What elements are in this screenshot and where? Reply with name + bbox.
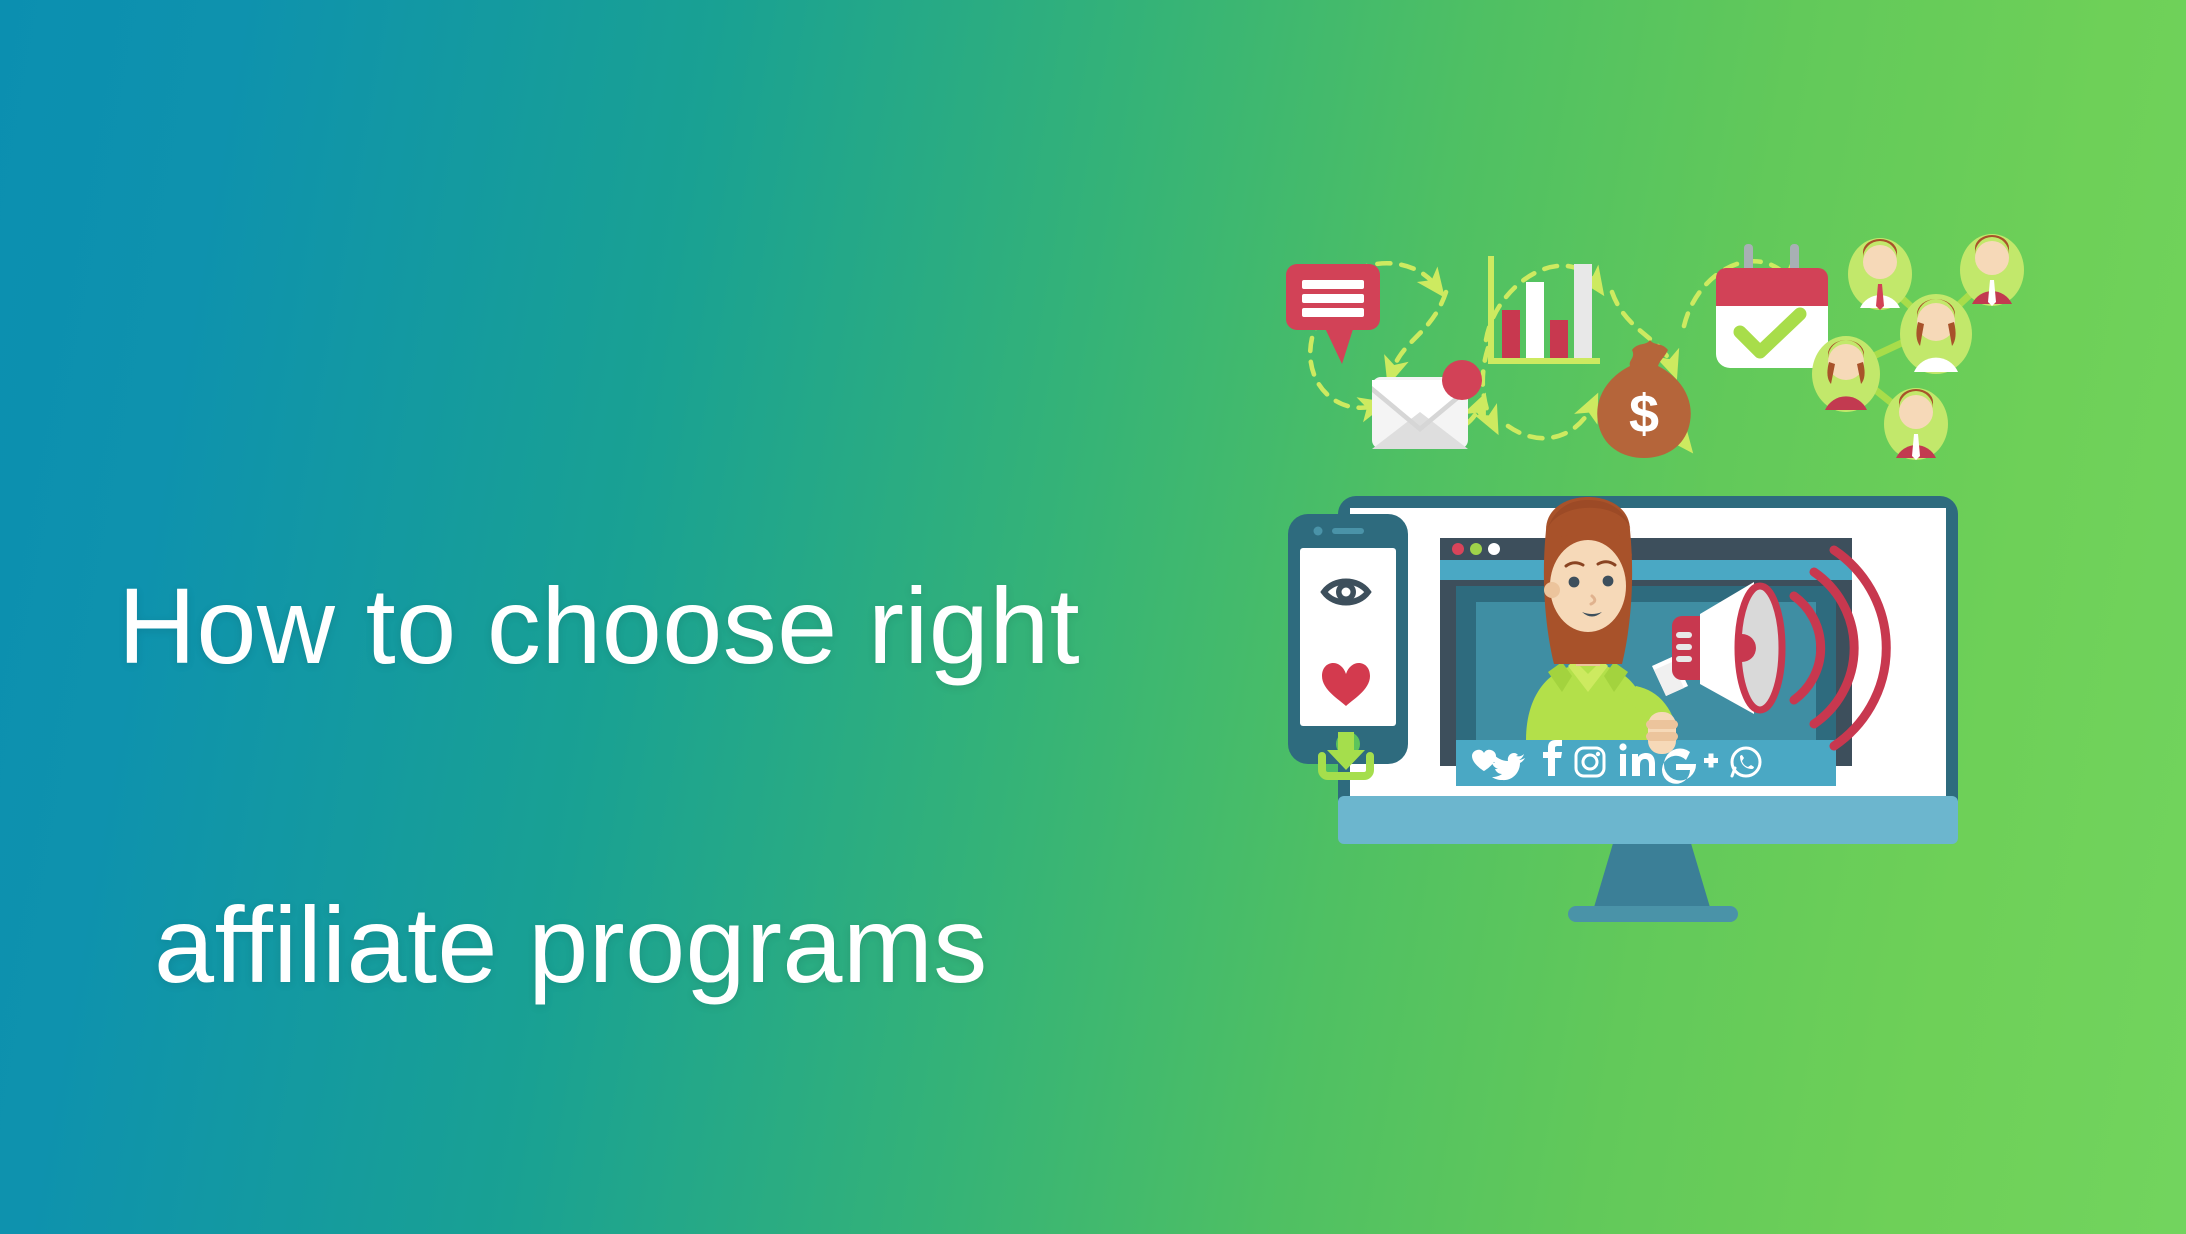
headline-line-2: affiliate programs bbox=[154, 865, 1208, 1025]
avatar bbox=[1900, 294, 1972, 374]
social-share-bar bbox=[1456, 740, 1836, 786]
envelope-icon bbox=[1372, 360, 1482, 449]
desktop-monitor bbox=[1338, 496, 1958, 922]
monitor-chin bbox=[1338, 796, 1958, 844]
affiliate-marketing-illustration: $ bbox=[1280, 200, 2080, 1000]
bar-chart-icon bbox=[1488, 256, 1600, 364]
calendar-check-icon bbox=[1716, 244, 1828, 368]
avatar bbox=[1960, 234, 2024, 306]
headline-line-1: How to choose right bbox=[118, 546, 1208, 706]
affiliate-banner: How to choose right affiliate programs bbox=[0, 0, 2186, 1234]
presenter-eye-left bbox=[1569, 577, 1580, 588]
avatar bbox=[1848, 238, 1912, 310]
browser-dot-maximize bbox=[1488, 543, 1500, 555]
phone-camera bbox=[1314, 527, 1323, 536]
notification-badge bbox=[1442, 360, 1482, 400]
money-bag-icon: $ bbox=[1597, 340, 1691, 458]
presenter-face bbox=[1550, 540, 1626, 632]
presenter-eye-right bbox=[1603, 576, 1614, 587]
browser-dot-minimize bbox=[1470, 543, 1482, 555]
browser-titlebar bbox=[1440, 538, 1852, 560]
browser-dot-close bbox=[1452, 543, 1464, 555]
money-symbol: $ bbox=[1629, 384, 1659, 444]
chat-bubble-icon bbox=[1286, 264, 1380, 364]
page-title: How to choose right affiliate programs bbox=[118, 386, 1208, 1185]
avatar bbox=[1812, 336, 1880, 412]
mobile-phone bbox=[1288, 514, 1408, 776]
avatar bbox=[1884, 388, 1948, 460]
monitor-stand bbox=[1592, 840, 1712, 914]
presenter-hand bbox=[1646, 712, 1678, 754]
people-network-icon bbox=[1812, 234, 2024, 460]
phone-speaker bbox=[1332, 528, 1364, 534]
